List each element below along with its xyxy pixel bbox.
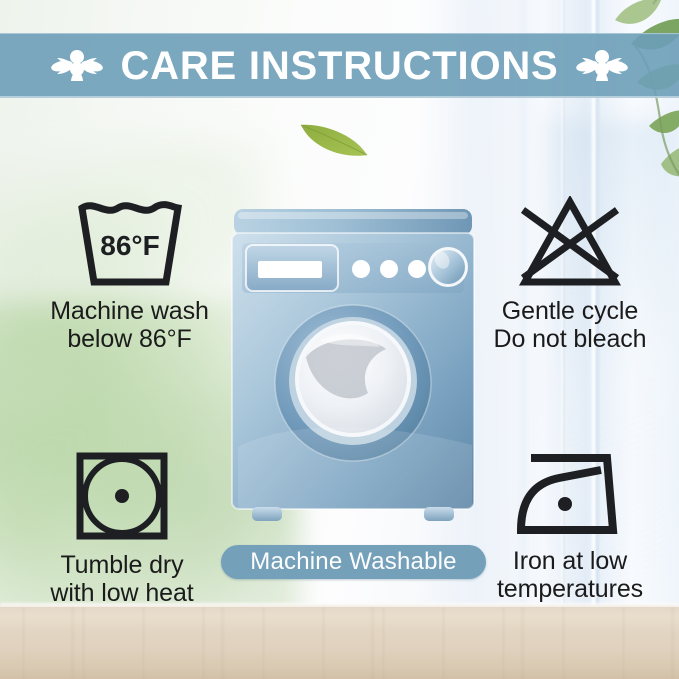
care-instructions-infographic: CARE INSTRUCTIONS bbox=[0, 0, 679, 679]
table-wood-grain bbox=[0, 607, 679, 679]
washing-machine-illustration bbox=[228, 207, 478, 537]
iron-icon bbox=[515, 448, 625, 540]
drawer-slot bbox=[258, 261, 322, 278]
machine-washable-label: Machine Washable bbox=[250, 548, 456, 576]
do-not-bleach-triangle-icon bbox=[515, 196, 625, 290]
care-item-caption: Machine wash below 86°F bbox=[50, 297, 209, 353]
floating-leaf-icon bbox=[297, 119, 371, 161]
page-title: CARE INSTRUCTIONS bbox=[120, 46, 558, 86]
leaves-icon bbox=[557, 0, 679, 201]
heat-level-dot bbox=[558, 497, 572, 511]
care-item-machine-wash: 86°F Machine wash below 86°F bbox=[22, 196, 237, 353]
care-item-gentle-cycle-no-bleach: Gentle cycle Do not bleach bbox=[470, 196, 670, 353]
heat-level-dot bbox=[115, 489, 129, 503]
washer-foot bbox=[424, 507, 454, 521]
tumble-dry-icon bbox=[72, 448, 172, 544]
care-item-iron-low: Iron at low temperatures bbox=[470, 448, 670, 603]
fleur-de-lis-icon bbox=[575, 46, 629, 86]
wooden-table-surface bbox=[0, 607, 679, 679]
care-item-caption: Iron at low temperatures bbox=[497, 547, 643, 603]
wash-tub-icon: 86°F bbox=[76, 196, 184, 290]
care-item-tumble-dry-low: Tumble dry with low heat bbox=[22, 448, 222, 607]
indicator-light bbox=[352, 260, 370, 278]
banner-bottom-hairline bbox=[0, 96, 679, 98]
washer-foot bbox=[252, 507, 282, 521]
wash-temperature-label: 86°F bbox=[100, 230, 159, 261]
fleur-de-lis-icon bbox=[50, 46, 104, 86]
indicator-light bbox=[408, 260, 426, 278]
machine-washable-badge: Machine Washable bbox=[221, 545, 486, 579]
care-item-caption: Gentle cycle Do not bleach bbox=[494, 297, 647, 353]
care-instructions-banner: CARE INSTRUCTIONS bbox=[0, 33, 679, 98]
indicator-light bbox=[380, 260, 398, 278]
care-item-caption: Tumble dry with low heat bbox=[50, 551, 193, 607]
